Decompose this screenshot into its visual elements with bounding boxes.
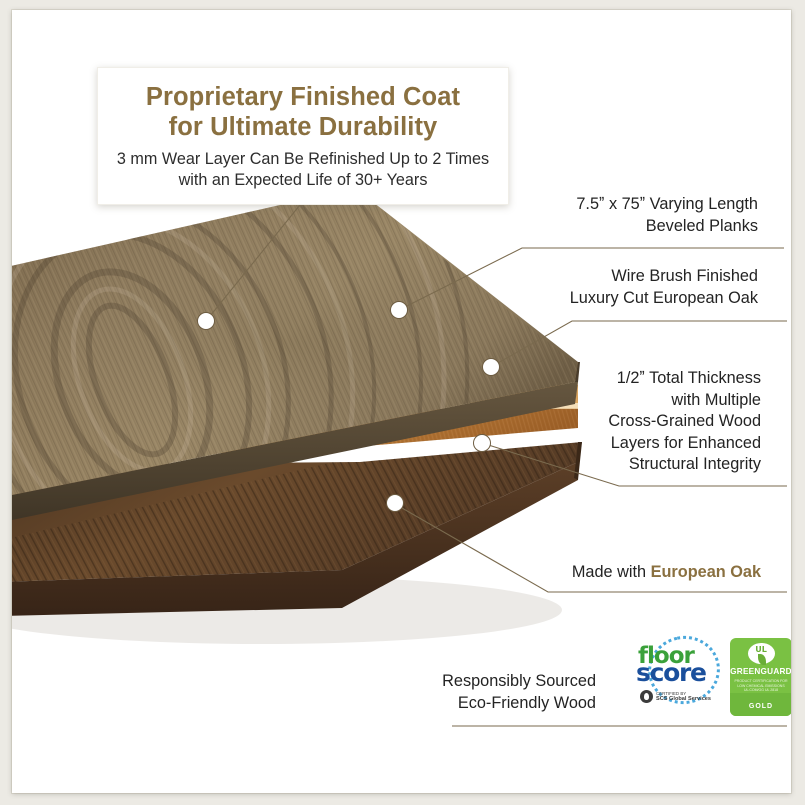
leader-line-coating <box>206 200 304 321</box>
scs-badge-icon <box>640 690 653 703</box>
ul-mark-text: UL <box>748 645 775 654</box>
greenguard-level-band: GOLD <box>730 693 791 716</box>
callout-headline-line1: Proprietary Finished Coat <box>146 82 460 112</box>
label-thickness-line2: with Multiple <box>608 390 761 412</box>
hotspot-size <box>391 302 408 319</box>
label-thickness: 1/2ˮ Total Thickness with Multiple Cross… <box>608 368 761 476</box>
hotspot-thickness <box>474 435 491 452</box>
greenguard-name: GREENGUARD <box>730 667 791 676</box>
floorscore-word-score: score <box>636 662 718 684</box>
infographic-root: Proprietary Finished Coat for Ultimate D… <box>0 0 805 805</box>
callout-sub-line2: with an Expected Life of 30+ Years <box>179 170 428 191</box>
label-eco-line2: Eco-Friendly Wood <box>442 692 596 714</box>
scs-cert-org: SCS Global Services <box>656 696 711 702</box>
label-finish-line2: Luxury Cut European Oak <box>570 288 758 310</box>
core-layers <box>12 356 578 462</box>
leaf-icon <box>758 654 766 665</box>
label-finish-line1: Wire Brush Finished <box>570 266 758 288</box>
label-thickness-line1: 1/2ˮ Total Thickness <box>608 368 761 390</box>
hotspots <box>198 302 500 512</box>
label-plank-size-line1: 7.5ˮ x 75ˮ Varying Length <box>576 194 758 216</box>
label-plank-size-line2: Beveled Planks <box>576 216 758 238</box>
label-finish: Wire Brush Finished Luxury Cut European … <box>570 266 758 309</box>
label-thickness-line3: Cross-Grained Wood <box>608 411 761 433</box>
callout-card: Proprietary Finished Coat for Ultimate D… <box>97 67 509 205</box>
callout-headline-line2: for Ultimate Durability <box>169 112 438 142</box>
hotspot-material <box>387 495 404 512</box>
ul-logo-icon: UL <box>748 643 775 664</box>
floorscore-logo: floor score CERTIFIED BY SCS Global Serv… <box>634 634 720 714</box>
greenguard-fine-print: PRODUCT CERTIFICATION FOR LOW CHEMICAL E… <box>733 679 789 693</box>
greenguard-badge: UL GREENGUARD PRODUCT CERTIFICATION FOR … <box>730 638 791 716</box>
label-thickness-line5: Structural Integrity <box>608 454 761 476</box>
label-plank-size: 7.5ˮ x 75ˮ Varying Length Beveled Planks <box>576 194 758 237</box>
leader-line-finish <box>491 321 787 367</box>
label-thickness-line4: Layers for Enhanced <box>608 433 761 455</box>
label-eco: Responsibly Sourced Eco-Friendly Wood <box>442 670 596 714</box>
label-material: Made with European Oak <box>572 562 761 584</box>
infographic-canvas: Proprietary Finished Coat for Ultimate D… <box>12 10 791 793</box>
greenguard-level: GOLD <box>749 703 773 710</box>
scs-certification-mark: CERTIFIED BY SCS Global Services <box>640 690 711 703</box>
label-eco-line1: Responsibly Sourced <box>442 670 596 692</box>
callout-sub-line1: 3 mm Wear Layer Can Be Refinished Up to … <box>117 149 489 170</box>
hotspot-finish <box>483 359 500 376</box>
label-material-brand: European Oak <box>651 563 761 581</box>
hotspot-coating <box>198 313 215 330</box>
label-material-prefix: Made with <box>572 563 651 581</box>
backing-layer <box>12 442 582 616</box>
